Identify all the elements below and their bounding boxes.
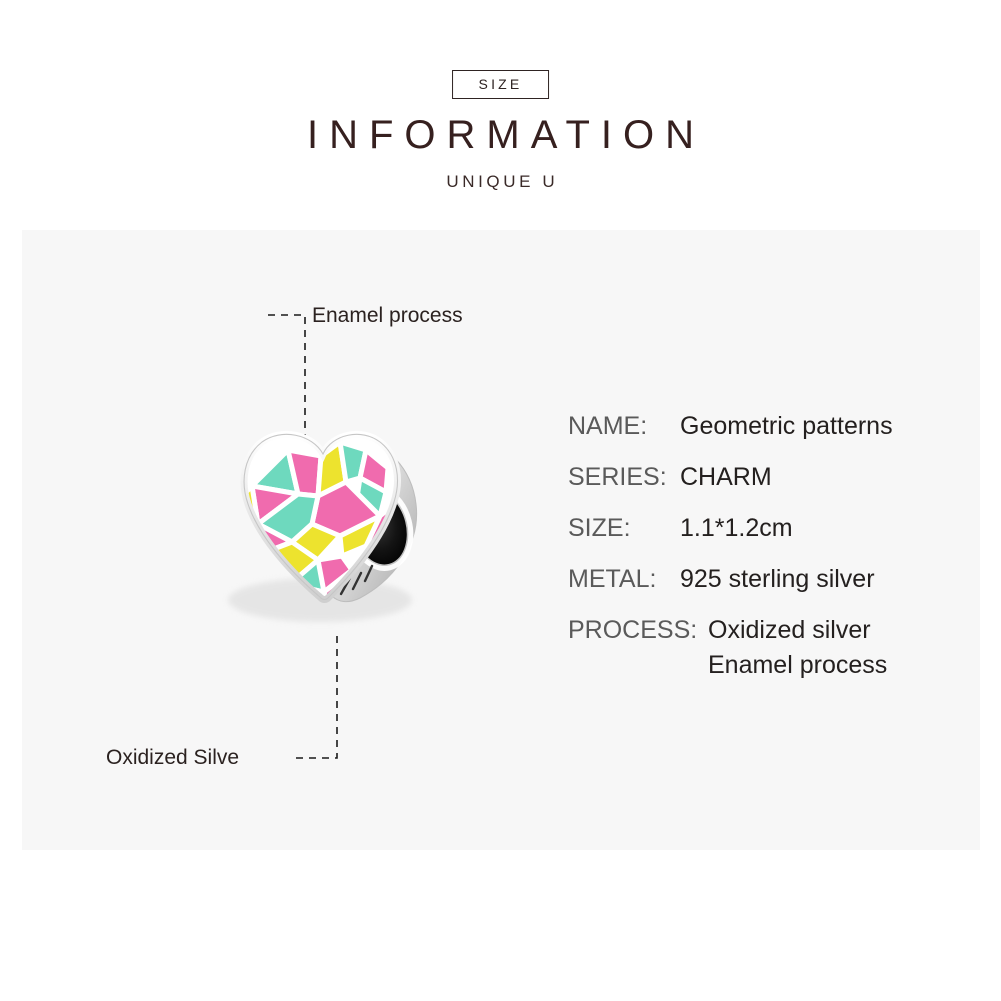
spec-row-process: PROCESS: Oxidized silver Enamel process — [568, 616, 968, 680]
spec-value-metal: 925 sterling silver — [680, 565, 875, 594]
spec-value-process-group: Oxidized silver Enamel process — [708, 616, 887, 680]
spec-label-metal: METAL: — [568, 565, 680, 594]
page-subtitle: UNIQUE U — [0, 172, 1001, 192]
spec-value-series: CHARM — [680, 463, 772, 492]
callout-label-oxidized: Oxidized Silve — [106, 745, 239, 770]
spec-label-size: SIZE: — [568, 514, 680, 543]
spec-label-series: SERIES: — [568, 463, 680, 492]
spec-row-size: SIZE: 1.1*1.2cm — [568, 514, 968, 543]
spec-label-name: NAME: — [568, 412, 680, 441]
callout-label-enamel: Enamel process — [312, 303, 463, 328]
spec-value-size: 1.1*1.2cm — [680, 514, 793, 543]
spec-value-name: Geometric patterns — [680, 412, 893, 441]
spec-label-process: PROCESS: — [568, 616, 708, 645]
product-image — [180, 420, 470, 670]
size-badge-label: SIZE — [479, 77, 523, 91]
spec-row-name: NAME: Geometric patterns — [568, 412, 968, 441]
product-spec-list: NAME: Geometric patterns SERIES: CHARM S… — [568, 412, 968, 702]
spec-value-process-line1: Oxidized silver — [708, 616, 887, 645]
header: SIZE INFORMATION UNIQUE U — [0, 0, 1001, 230]
spec-value-process-line2: Enamel process — [708, 651, 887, 680]
size-badge: SIZE — [452, 70, 550, 99]
spec-row-metal: METAL: 925 sterling silver — [568, 565, 968, 594]
page-title: INFORMATION — [0, 112, 1001, 158]
spec-row-series: SERIES: CHARM — [568, 463, 968, 492]
